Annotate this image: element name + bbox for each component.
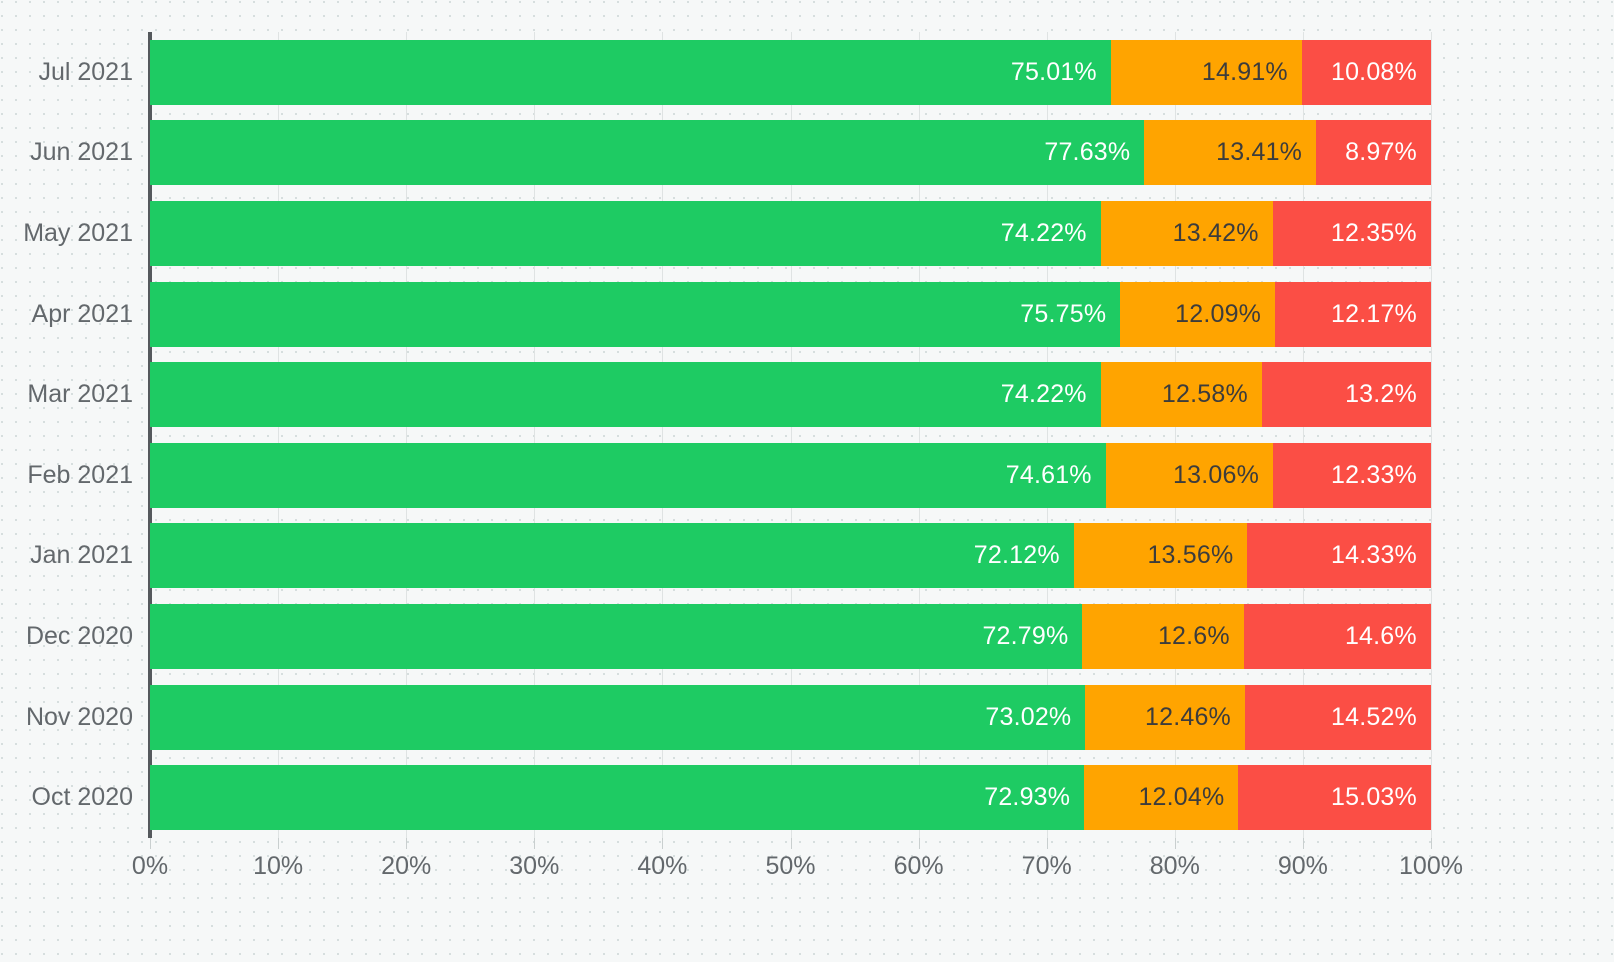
bar-segment-medium[interactable]: 12.09% — [1120, 282, 1275, 347]
x-axis-label: 70% — [1022, 852, 1072, 881]
bar-row: 73.02%12.46%14.52% — [150, 685, 1431, 750]
stacked-bar-chart: Jul 2021Jun 2021May 2021Apr 2021Mar 2021… — [0, 0, 1614, 962]
bar-segment-good[interactable]: 75.01% — [150, 40, 1111, 105]
bar-row: 74.22%12.58%13.2% — [150, 362, 1431, 427]
x-axis-labels: 0%10%20%30%40%50%60%70%80%90%100% — [150, 852, 1431, 892]
x-axis-label: 100% — [1399, 852, 1463, 881]
bar-row: 75.75%12.09%12.17% — [150, 282, 1431, 347]
x-axis-label: 30% — [509, 852, 559, 881]
bar-segment-good[interactable]: 72.79% — [150, 604, 1082, 669]
axis-tick — [534, 838, 535, 849]
axis-tick — [1303, 838, 1304, 849]
axis-tick — [150, 838, 151, 849]
bar-segment-medium[interactable]: 14.91% — [1111, 40, 1302, 105]
y-axis-label: Dec 2020 — [0, 604, 133, 669]
bar-segment-bad[interactable]: 15.03% — [1238, 765, 1431, 830]
bar-segment-good[interactable]: 73.02% — [150, 685, 1085, 750]
axis-tick — [1175, 838, 1176, 849]
y-axis-label: Apr 2021 — [0, 282, 133, 347]
gridline — [1431, 32, 1432, 838]
bar-segment-good[interactable]: 72.12% — [150, 523, 1074, 588]
bar-segment-medium[interactable]: 12.04% — [1084, 765, 1238, 830]
x-axis-label: 0% — [132, 852, 168, 881]
bar-segment-good[interactable]: 72.93% — [150, 765, 1084, 830]
axis-tick — [1431, 838, 1432, 849]
y-axis-label: Feb 2021 — [0, 443, 133, 508]
axis-tick — [278, 838, 279, 849]
bar-segment-good[interactable]: 74.61% — [150, 443, 1106, 508]
bar-segment-medium[interactable]: 13.06% — [1106, 443, 1273, 508]
bar-segment-medium[interactable]: 13.41% — [1144, 120, 1316, 185]
bar-segment-good[interactable]: 74.22% — [150, 362, 1101, 427]
y-axis-label: Jul 2021 — [0, 40, 133, 105]
axis-tick — [662, 838, 663, 849]
x-axis-label: 80% — [1150, 852, 1200, 881]
bar-segment-medium[interactable]: 13.42% — [1101, 201, 1273, 266]
y-axis-label: Jan 2021 — [0, 523, 133, 588]
x-axis-label: 10% — [253, 852, 303, 881]
bar-row: 74.61%13.06%12.33% — [150, 443, 1431, 508]
bar-row: 72.79%12.6%14.6% — [150, 604, 1431, 669]
x-axis-label: 90% — [1278, 852, 1328, 881]
bar-row: 72.12%13.56%14.33% — [150, 523, 1431, 588]
y-axis-label: Mar 2021 — [0, 362, 133, 427]
y-axis-labels: Jul 2021Jun 2021May 2021Apr 2021Mar 2021… — [0, 32, 133, 838]
bar-segment-bad[interactable]: 12.17% — [1275, 282, 1431, 347]
x-axis-label: 50% — [765, 852, 815, 881]
bar-segment-bad[interactable]: 14.33% — [1247, 523, 1431, 588]
x-axis-ticks — [150, 838, 1431, 850]
bar-row: 77.63%13.41%8.97% — [150, 120, 1431, 185]
bar-segment-good[interactable]: 75.75% — [150, 282, 1120, 347]
bar-segment-bad[interactable]: 12.33% — [1273, 443, 1431, 508]
bar-segment-medium[interactable]: 12.58% — [1101, 362, 1262, 427]
bar-segment-medium[interactable]: 13.56% — [1074, 523, 1248, 588]
bar-row: 75.01%14.91%10.08% — [150, 40, 1431, 105]
bar-segment-bad[interactable]: 10.08% — [1302, 40, 1431, 105]
y-axis-label: Oct 2020 — [0, 765, 133, 830]
bar-segment-bad[interactable]: 13.2% — [1262, 362, 1431, 427]
x-axis-label: 40% — [637, 852, 687, 881]
y-axis-label: Jun 2021 — [0, 120, 133, 185]
axis-tick — [406, 838, 407, 849]
plot-area: 75.01%14.91%10.08%77.63%13.41%8.97%74.22… — [150, 32, 1431, 838]
bar-segment-bad[interactable]: 14.52% — [1245, 685, 1431, 750]
bar-segment-good[interactable]: 74.22% — [150, 201, 1101, 266]
bar-row: 74.22%13.42%12.35% — [150, 201, 1431, 266]
bar-segment-bad[interactable]: 12.35% — [1273, 201, 1431, 266]
y-axis-label: May 2021 — [0, 201, 133, 266]
bar-segment-good[interactable]: 77.63% — [150, 120, 1144, 185]
bar-segment-medium[interactable]: 12.46% — [1085, 685, 1245, 750]
bar-segment-bad[interactable]: 8.97% — [1316, 120, 1431, 185]
x-axis-label: 60% — [894, 852, 944, 881]
bar-segment-bad[interactable]: 14.6% — [1244, 604, 1431, 669]
bar-segment-medium[interactable]: 12.6% — [1082, 604, 1243, 669]
bar-row: 72.93%12.04%15.03% — [150, 765, 1431, 830]
axis-tick — [919, 838, 920, 849]
x-axis-label: 20% — [381, 852, 431, 881]
axis-tick — [791, 838, 792, 849]
y-axis-label: Nov 2020 — [0, 685, 133, 750]
axis-tick — [1047, 838, 1048, 849]
